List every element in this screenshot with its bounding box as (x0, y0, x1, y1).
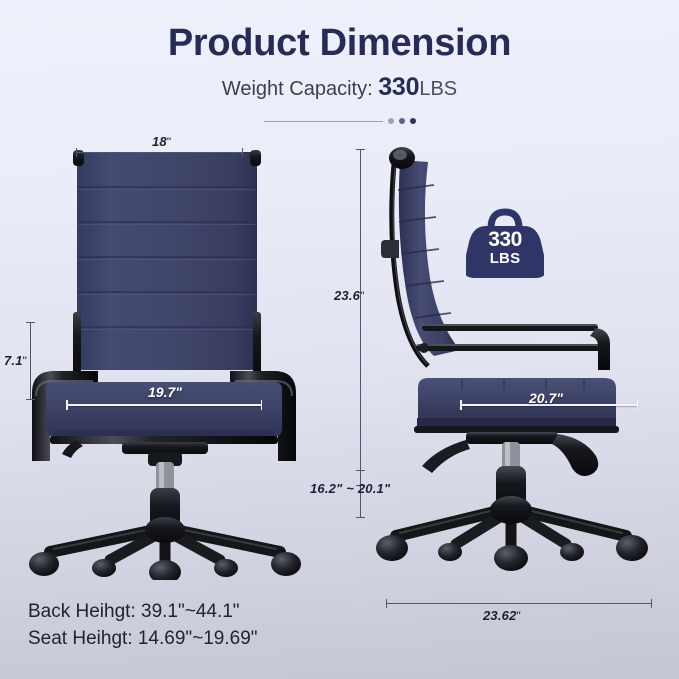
dim-label-seat-width: 19.7" (148, 384, 182, 400)
dim-label-seat-depth: 20.7" (529, 390, 563, 406)
header: Product Dimension Weight Capacity: 330LB… (0, 22, 679, 101)
front-backrest (73, 150, 261, 374)
side-tilt-lever (422, 440, 470, 473)
dim-label-armrest-height: 7.1" (4, 353, 27, 368)
footer-specs: Back Heihgt: 39.1"~44.1" Seat Heihgt: 14… (28, 599, 258, 653)
footer-seat-height: Seat Heihgt: 14.69"~19.69" (28, 626, 258, 653)
dim-line-armrest-height (30, 322, 31, 400)
dim-line-back-height (360, 149, 361, 486)
weight-capacity-label: Weight Capacity: (222, 78, 373, 100)
weight-capacity-value: 330 (378, 73, 419, 101)
divider-dot-3-icon (410, 118, 416, 124)
dim-label-base-width: 23.62" (483, 608, 521, 623)
dim-line-seat-width (66, 404, 262, 406)
side-backrest (381, 147, 460, 366)
divider-line (264, 121, 383, 122)
weight-capacity-line: Weight Capacity: 330LBS (0, 74, 679, 102)
footer-back-height: Back Heihgt: 39.1"~44.1" (28, 599, 258, 626)
weight-capacity-badge: 330 LBS (466, 198, 544, 280)
dim-label-back-width: 18" (152, 134, 171, 149)
divider-dot-1-icon (388, 118, 394, 124)
page-title: Product Dimension (0, 22, 679, 65)
divider-dot-2-icon (399, 118, 405, 124)
chair-front-view (14, 140, 314, 580)
side-seat (414, 378, 619, 433)
product-dimension-infographic: Product Dimension Weight Capacity: 330LB… (0, 0, 679, 679)
header-divider (264, 118, 416, 124)
dim-label-back-height: 23.6" (334, 288, 365, 303)
side-height-lever (552, 434, 598, 476)
kettlebell-weight-icon (466, 198, 544, 280)
side-armrest (416, 324, 610, 370)
dim-line-base-width (386, 603, 652, 604)
weight-capacity-unit: LBS (419, 78, 457, 100)
dim-line-back-width (76, 152, 243, 153)
dim-label-seat-height-range: 16.2" ~ 20.1" (310, 481, 390, 496)
